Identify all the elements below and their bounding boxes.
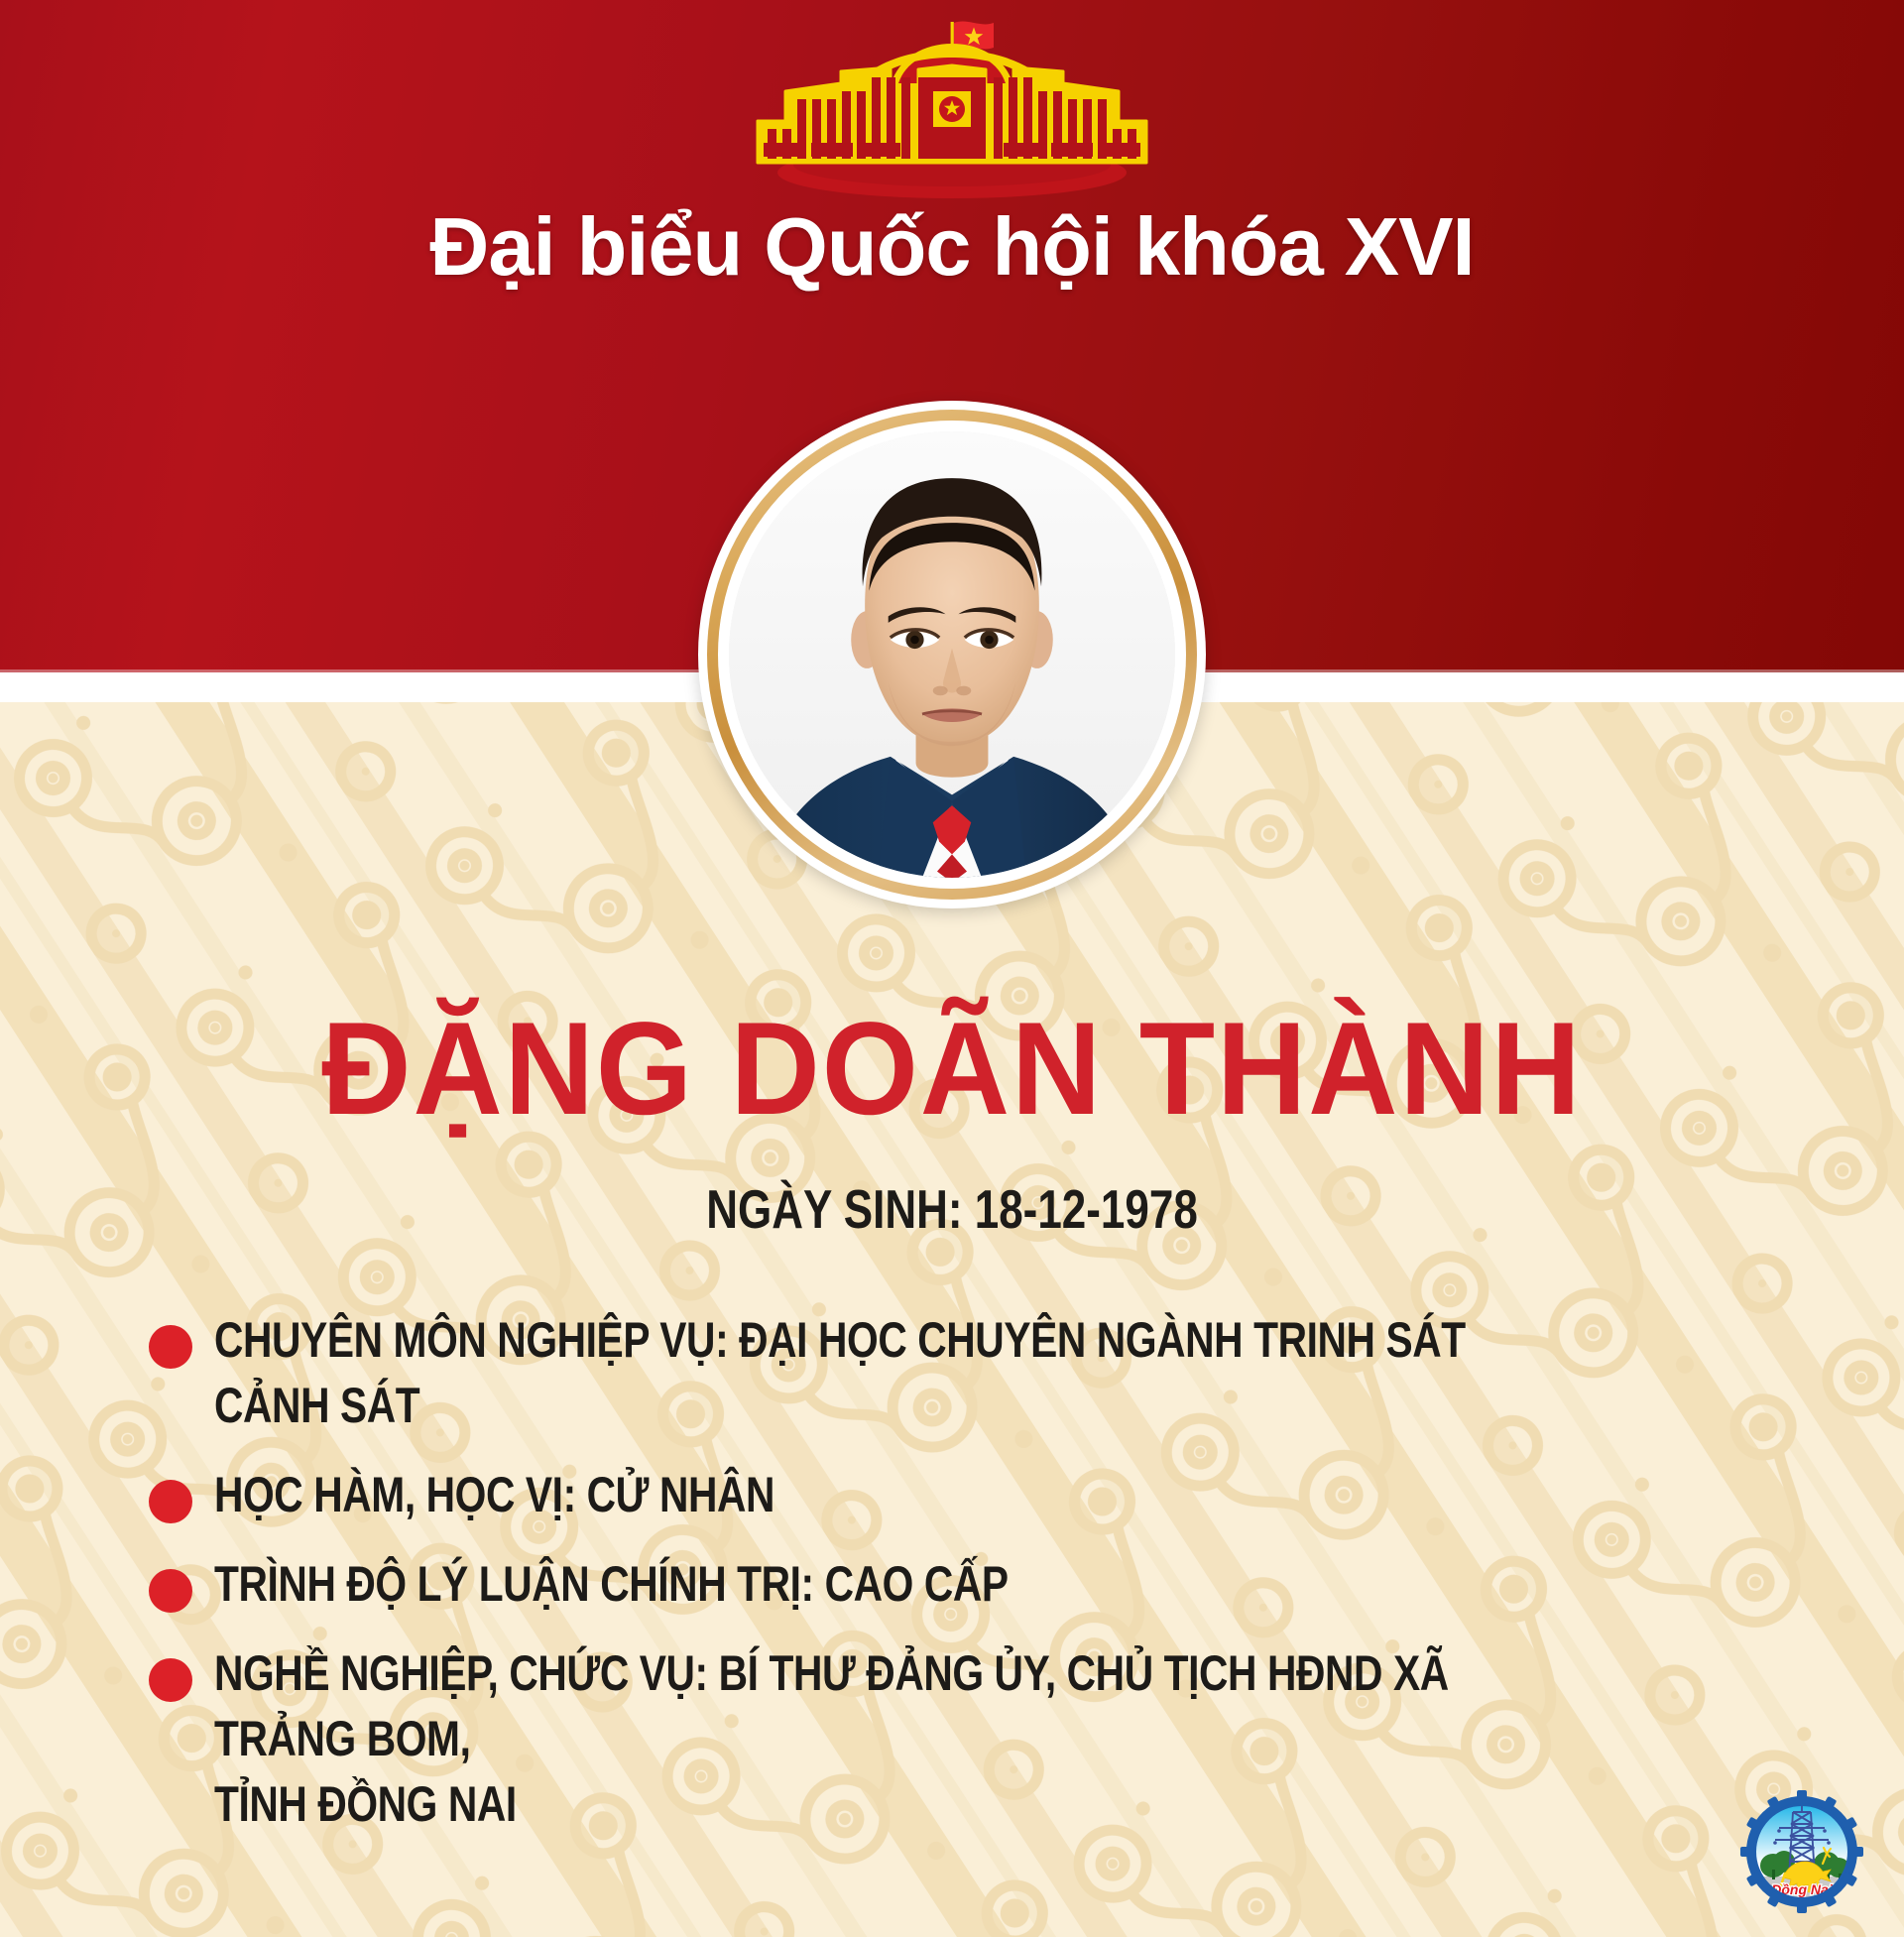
avatar-gold-ring xyxy=(707,410,1197,900)
list-item: TRÌNH ĐỘ LÝ LUẬN CHÍNH TRỊ: CAO CẤP xyxy=(149,1551,1874,1617)
infographic-poster: Đại biểu Quốc hội khóa XVI xyxy=(0,0,1904,1937)
list-item-label: TRÌNH ĐỘ LÝ LUẬN CHÍNH TRỊ: CAO CẤP xyxy=(214,1551,1567,1617)
list-item: CHUYÊN MÔN NGHIỆP VỤ: ĐẠI HỌC CHUYÊN NGÀ… xyxy=(149,1307,1874,1438)
bullet-dot-icon xyxy=(149,1658,192,1702)
list-item: HỌC HÀM, HỌC VỊ: CỬ NHÂN xyxy=(149,1462,1874,1527)
list-item: NGHỀ NGHIỆP, CHỨC VỤ: BÍ THƯ ĐẢNG ỦY, CH… xyxy=(149,1640,1874,1837)
national-assembly-building-emblem xyxy=(724,14,1180,202)
bullet-dot-icon xyxy=(149,1325,192,1369)
person-name: ĐẶNG DOÃN THÀNH xyxy=(58,1004,1847,1136)
avatar-white-ring xyxy=(718,421,1186,889)
dong-nai-province-logo: Đồng Nai xyxy=(1727,1774,1876,1923)
bullet-dot-icon xyxy=(149,1480,192,1523)
bullet-dot-icon xyxy=(149,1569,192,1613)
list-item-label: CHUYÊN MÔN NGHIỆP VỤ: ĐẠI HỌC CHUYÊN NGÀ… xyxy=(214,1307,1567,1438)
portrait-photo xyxy=(729,431,1175,878)
page-title: Đại biểu Quốc hội khóa XVI xyxy=(0,203,1904,291)
profile-info-list: CHUYÊN MÔN NGHIỆP VỤ: ĐẠI HỌC CHUYÊN NGÀ… xyxy=(149,1307,1874,1837)
date-of-birth: NGÀY SINH: 18-12-1978 xyxy=(190,1182,1714,1237)
avatar xyxy=(698,401,1206,908)
list-item-label: HỌC HÀM, HỌC VỊ: CỬ NHÂN xyxy=(214,1462,1567,1527)
list-item-label: NGHỀ NGHIỆP, CHỨC VỤ: BÍ THƯ ĐẢNG ỦY, CH… xyxy=(214,1640,1567,1837)
